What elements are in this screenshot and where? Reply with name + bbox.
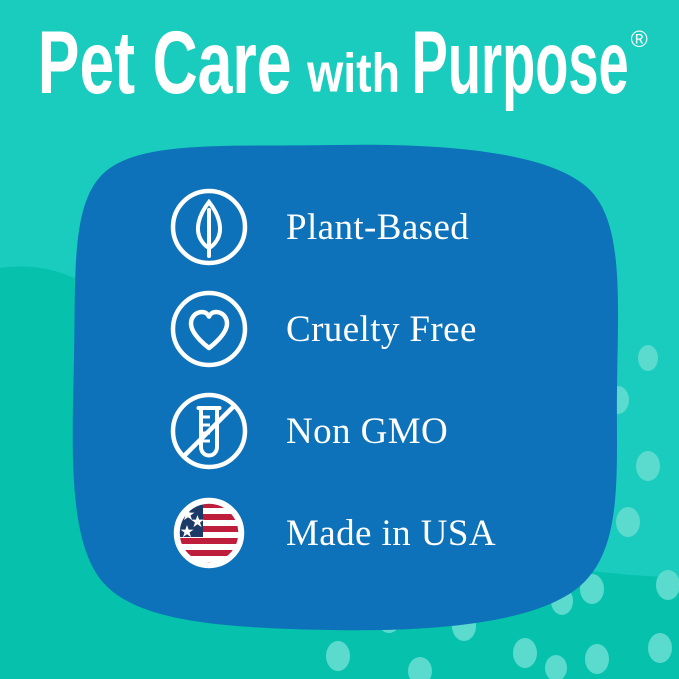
feature-label-plant-based: Plant-Based bbox=[286, 209, 469, 246]
feature-item-non-gmo: Non GMO bbox=[168, 380, 598, 482]
no-test-tube-icon bbox=[168, 390, 250, 472]
feature-list: Plant-Based Cruelty Free bbox=[168, 176, 598, 584]
feature-label-cruelty-free: Cruelty Free bbox=[286, 311, 477, 348]
feature-item-made-in-usa: Made in USA bbox=[168, 482, 598, 584]
feature-item-cruelty-free: Cruelty Free bbox=[168, 278, 598, 380]
heart-in-circle-icon bbox=[168, 288, 250, 370]
feature-label-non-gmo: Non GMO bbox=[286, 413, 448, 450]
feature-item-plant-based: Plant-Based bbox=[168, 176, 598, 278]
feature-label-made-in-usa: Made in USA bbox=[286, 515, 496, 552]
poster-canvas: Pet Care with Purpose ® Plant-Based Crue… bbox=[0, 0, 679, 679]
leaf-in-circle-icon bbox=[168, 186, 250, 268]
usa-flag-badge-icon bbox=[168, 492, 250, 574]
